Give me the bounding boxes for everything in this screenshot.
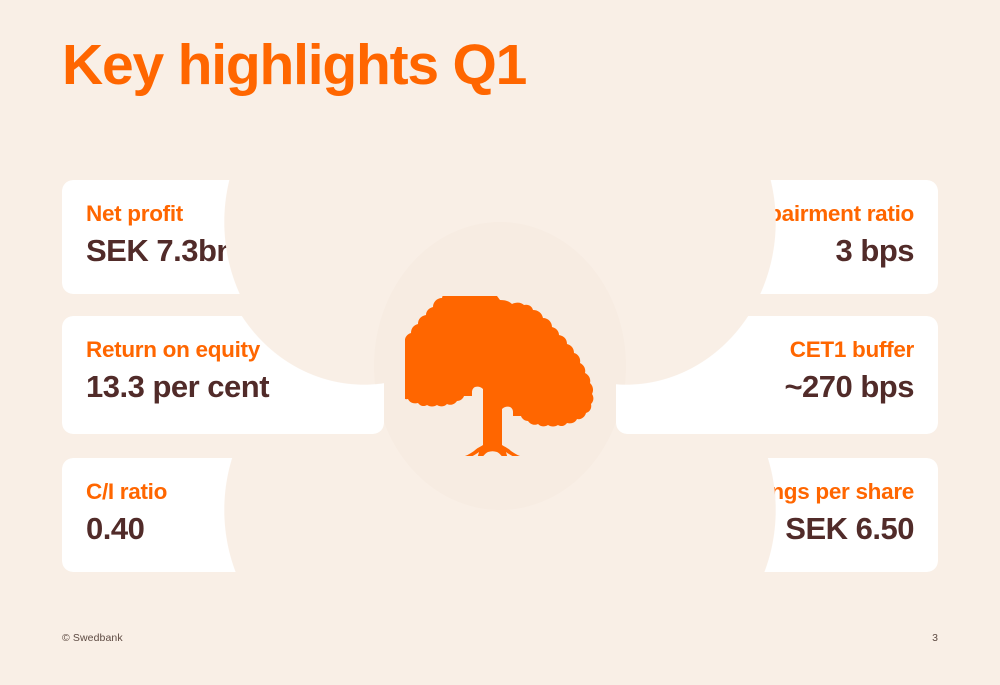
metric-card-credit-impairment-ratio: Credit impairment ratio 3 bps <box>606 180 938 294</box>
page-title: Key highlights Q1 <box>62 36 526 96</box>
metric-value: SEK 7.3bn <box>86 231 370 271</box>
metric-value: 0.40 <box>86 509 370 549</box>
metric-label: CET1 buffer <box>640 336 914 365</box>
slide-canvas: Key highlights Q1 Net profit SEK 7.3bn C… <box>0 0 1000 685</box>
metric-label: Credit impairment ratio <box>630 200 914 229</box>
metric-card-cet1-buffer: CET1 buffer ~270 bps <box>616 316 938 434</box>
metric-card-ci-ratio: C/I ratio 0.40 <box>62 458 394 572</box>
metric-card-earnings-per-share: Earnings per share SEK 6.50 <box>606 458 938 572</box>
metric-value: 13.3 per cent <box>86 367 360 407</box>
metric-value: SEK 6.50 <box>630 509 914 549</box>
metric-label: Return on equity <box>86 336 360 365</box>
footer-page-number: 3 <box>932 632 938 644</box>
metric-label: Net profit <box>86 200 370 229</box>
metric-card-net-profit: Net profit SEK 7.3bn <box>62 180 394 294</box>
footer-copyright: © Swedbank <box>62 632 123 644</box>
metric-value: 3 bps <box>630 231 914 271</box>
metric-card-return-on-equity: Return on equity 13.3 per cent <box>62 316 384 434</box>
metric-label: C/I ratio <box>86 478 370 507</box>
swedbank-oak-tree-logo <box>405 296 595 456</box>
metric-label: Earnings per share <box>630 478 914 507</box>
metric-value: ~270 bps <box>640 367 914 407</box>
